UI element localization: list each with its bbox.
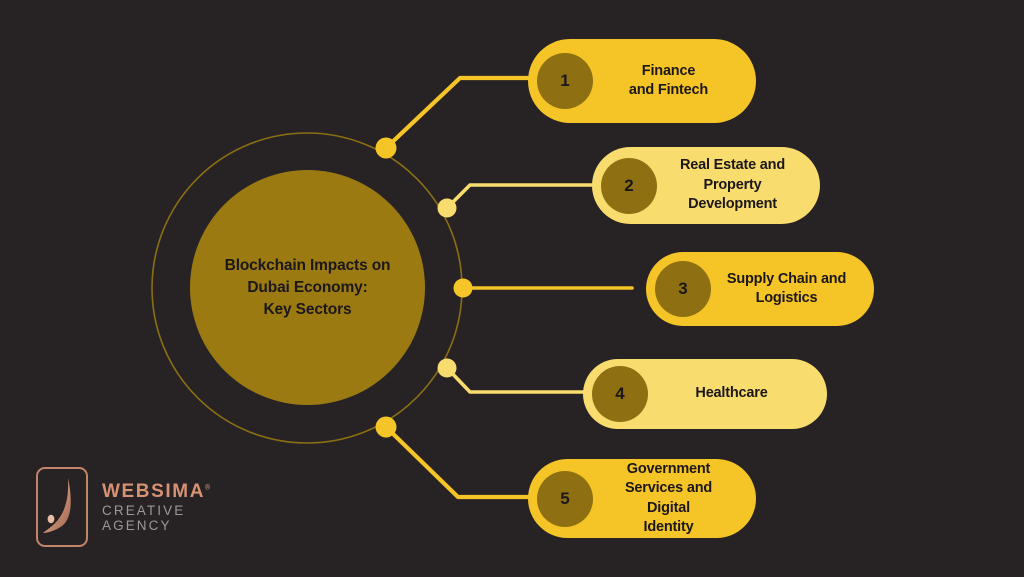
connector-node-1[interactable] (376, 138, 397, 159)
connector-node-3[interactable] (454, 279, 473, 298)
sector-number-label-2: 2 (624, 176, 633, 196)
sector-number-label-5: 5 (560, 489, 569, 509)
sector-number-2: 2 (601, 158, 657, 214)
crescent-feather-icon (36, 467, 88, 547)
connector-node-5[interactable] (376, 417, 397, 438)
connector-node-4[interactable] (438, 359, 457, 378)
sector-label-3: Supply Chain and Logistics (711, 270, 858, 309)
sector-card-5[interactable]: 5 Government Services and Digital Identi… (528, 459, 756, 538)
logo-tagline-line2: AGENCY (102, 518, 210, 533)
logo-wordmark: WEBSIMA® CREATIVE AGENCY (102, 481, 210, 532)
sector-label-4: Healthcare (648, 384, 811, 403)
connector-line-1 (386, 78, 536, 148)
sector-number-3: 3 (655, 261, 711, 317)
sector-label-5: Government Services and Digital Identity (593, 460, 740, 538)
sector-number-label-3: 3 (678, 279, 687, 299)
sector-number-label-1: 1 (560, 71, 569, 91)
registered-mark-icon: ® (205, 485, 210, 492)
sector-card-1[interactable]: 1 Finance and Fintech (528, 39, 756, 123)
sector-label-1: Finance and Fintech (593, 62, 740, 101)
infographic-canvas: Blockchain Impacts on Dubai Economy: Key… (0, 0, 1024, 577)
connector-line-4 (447, 368, 590, 392)
sector-number-label-4: 4 (615, 384, 624, 404)
connector-line-5 (386, 427, 536, 497)
connector-node-2[interactable] (438, 199, 457, 218)
sector-card-2[interactable]: 2 Real Estate and Property Development (592, 147, 820, 224)
center-title: Blockchain Impacts on Dubai Economy: Key… (203, 255, 413, 321)
sector-label-2: Real Estate and Property Development (657, 156, 804, 214)
sector-card-4[interactable]: 4 Healthcare (583, 359, 827, 429)
connector-line-2 (447, 185, 600, 208)
logo-tagline-line1: CREATIVE (102, 503, 210, 518)
logo-brand-name: WEBSIMA® (102, 481, 210, 502)
sector-number-5: 5 (537, 471, 593, 527)
sector-card-3[interactable]: 3 Supply Chain and Logistics (646, 252, 874, 326)
center-hub: Blockchain Impacts on Dubai Economy: Key… (190, 170, 425, 405)
sector-number-4: 4 (592, 366, 648, 422)
sector-number-1: 1 (537, 53, 593, 109)
logo-brand-text: WEBSIMA (102, 481, 205, 502)
brand-logo: WEBSIMA® CREATIVE AGENCY (36, 467, 210, 547)
